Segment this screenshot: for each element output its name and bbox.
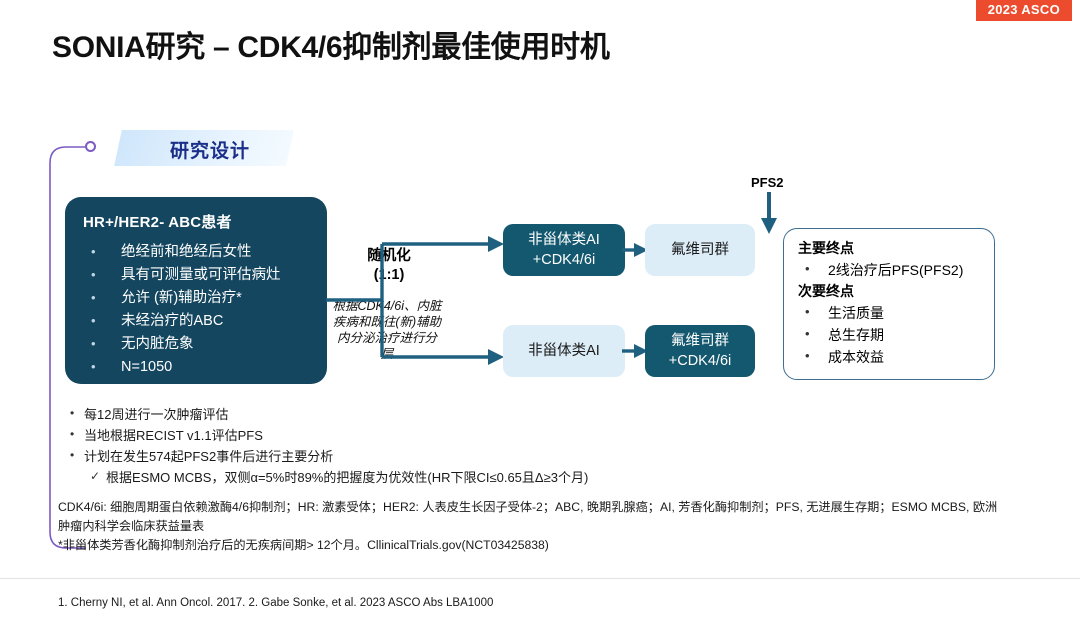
list-item: 生活质量 bbox=[798, 302, 984, 324]
list-item: 无内脏危象 bbox=[83, 333, 313, 356]
arm2-second-line-box: 氟维司群 +CDK4/6i bbox=[645, 325, 755, 377]
pfs2-arrow bbox=[758, 192, 780, 234]
secondary-endpoint-heading: 次要终点 bbox=[798, 281, 984, 302]
reference-citation: 1. Cherny NI, et al. Ann Oncol. 2017. 2.… bbox=[58, 597, 493, 609]
arm1-first-line-combo: +CDK4/6i bbox=[533, 252, 595, 268]
section-banner-label: 研究设计 bbox=[135, 136, 285, 163]
endpoints-box: 主要终点 2线治疗后PFS(PFS2) 次要终点 生活质量 总生存期 成本效益 bbox=[783, 228, 995, 380]
patient-population-box: HR+/HER2- ABC患者 绝经前和绝经后女性 具有可测量或可评估病灶 允许… bbox=[65, 197, 327, 384]
split-arrow-icon bbox=[326, 230, 506, 370]
patient-criteria-list: 绝经前和绝经后女性 具有可测量或可评估病灶 允许 (新)辅助治疗* 未经治疗的A… bbox=[83, 241, 313, 379]
list-item: 总生存期 bbox=[798, 324, 984, 346]
footer-divider bbox=[0, 578, 1080, 579]
primary-endpoint-list: 2线治疗后PFS(PFS2) bbox=[798, 259, 984, 281]
arm2-second-line-combo: +CDK4/6i bbox=[669, 353, 731, 369]
assessment-notes-list: 每12周进行一次肿瘤评估 当地根据RECIST v1.1评估PFS 计划在发生5… bbox=[68, 404, 708, 488]
arm1-first-line-box: 非甾体类AI +CDK4/6i bbox=[503, 224, 625, 276]
list-item: 具有可测量或可评估病灶 bbox=[83, 264, 313, 287]
randomization-connector bbox=[326, 230, 506, 370]
page-title: SONIA研究 – CDK4/6抑制剂最佳使用时机 bbox=[52, 22, 610, 66]
footnote-line-1: CDK4/6i: 细胞周期蛋白依赖激酶4/6抑制剂；HR: 激素受体；HER2:… bbox=[58, 498, 1008, 535]
arm2-second-line-drug: 氟维司群 bbox=[671, 333, 729, 349]
list-item: 允许 (新)辅助治疗* bbox=[83, 287, 313, 310]
list-item-sub: 根据ESMO MCBS，双侧α=5%时89%的把握度为优效性(HR下限CI≤0.… bbox=[68, 467, 708, 488]
abbreviations-footnote: CDK4/6i: 细胞周期蛋白依赖激酶4/6抑制剂；HR: 激素受体；HER2:… bbox=[58, 498, 1008, 555]
arm1-first-line-drug: 非甾体类AI bbox=[528, 232, 600, 248]
secondary-endpoint-list: 生活质量 总生存期 成本效益 bbox=[798, 302, 984, 368]
list-item: 2线治疗后PFS(PFS2) bbox=[798, 259, 984, 281]
slide-root: 2023 ASCO SONIA研究 – CDK4/6抑制剂最佳使用时机 研究设计… bbox=[0, 0, 1080, 621]
list-item: 计划在发生574起PFS2事件后进行主要分析 bbox=[68, 446, 708, 467]
asco-badge: 2023 ASCO bbox=[976, 0, 1072, 21]
arm1-second-line-box: 氟维司群 bbox=[645, 224, 755, 276]
pfs2-label: PFS2 bbox=[751, 175, 784, 190]
arm2-first-line-box: 非甾体类AI bbox=[503, 325, 625, 377]
list-item: N=1050 bbox=[83, 356, 313, 379]
footnote-line-2: *非甾体类芳香化酶抑制剂治疗后的无疾病间期> 12个月。CllinicalTri… bbox=[58, 536, 1008, 555]
list-item: 当地根据RECIST v1.1评估PFS bbox=[68, 425, 708, 446]
list-item: 每12周进行一次肿瘤评估 bbox=[68, 404, 708, 425]
list-item: 绝经前和绝经后女性 bbox=[83, 241, 313, 264]
arrow-down-icon bbox=[758, 192, 780, 234]
list-item: 成本效益 bbox=[798, 346, 984, 368]
list-item: 未经治疗的ABC bbox=[83, 310, 313, 333]
patient-population-title: HR+/HER2- ABC患者 bbox=[83, 211, 313, 232]
primary-endpoint-heading: 主要终点 bbox=[798, 238, 984, 259]
rail-dot-icon bbox=[85, 141, 96, 152]
